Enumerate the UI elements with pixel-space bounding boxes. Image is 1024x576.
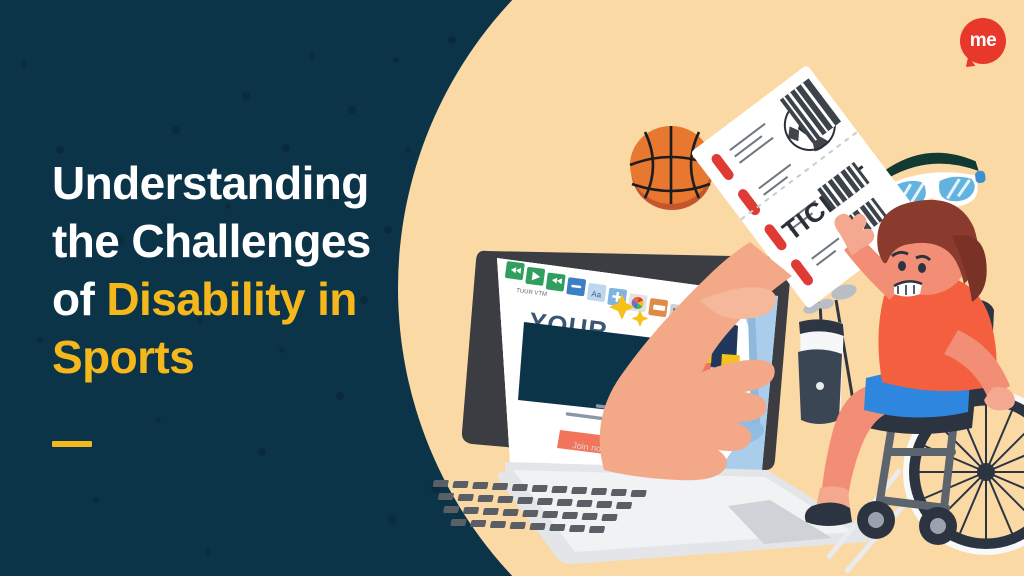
basketball-icon xyxy=(630,126,713,210)
title-line-3-plain: of xyxy=(52,273,106,325)
title-line-2: the Challenges xyxy=(52,213,472,271)
title-underline-rule xyxy=(52,441,92,447)
poster-canvas: Aa xyxy=(0,0,1024,576)
brand-logo[interactable]: me xyxy=(960,18,1006,64)
title-line-1: Understanding xyxy=(52,155,472,213)
wheelchair-caster xyxy=(857,501,957,545)
brand-logo-text: me xyxy=(960,18,1006,64)
title-line-3: of Disability in xyxy=(52,271,472,329)
page-title: Understanding the Challenges of Disabili… xyxy=(52,155,472,387)
title-line-4: Sports xyxy=(52,329,472,387)
svg-text:Aa: Aa xyxy=(591,289,602,299)
title-line-3-accent: Disability in xyxy=(106,273,356,325)
